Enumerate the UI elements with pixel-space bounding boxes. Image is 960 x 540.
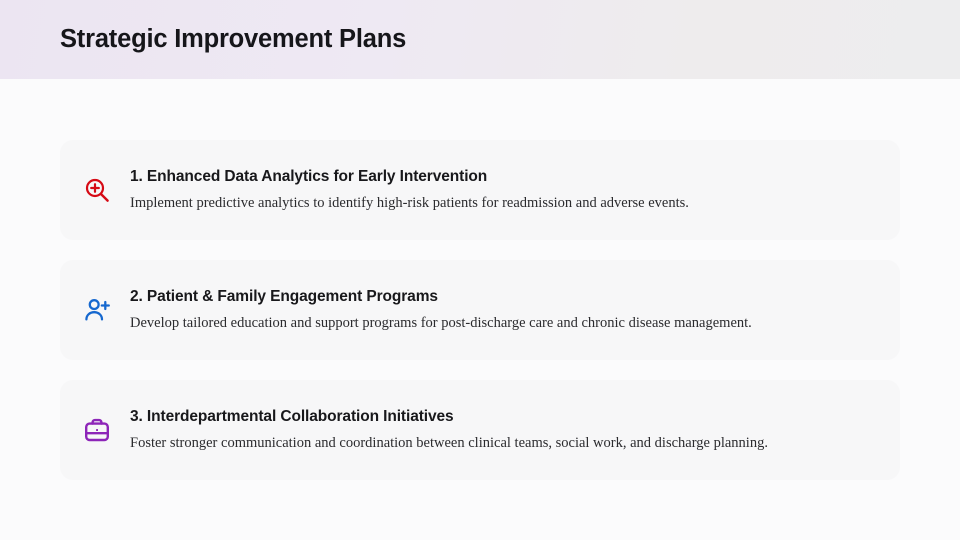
- zoom-in-magnifier-icon: [83, 176, 111, 204]
- plan-card-2[interactable]: 2. Patient & Family Engagement Programs …: [60, 260, 900, 360]
- page-header: Strategic Improvement Plans: [0, 0, 960, 79]
- briefcase-icon: [83, 416, 111, 444]
- plan-title: 2. Patient & Family Engagement Programs: [130, 287, 874, 306]
- plan-card-1[interactable]: 1. Enhanced Data Analytics for Early Int…: [60, 140, 900, 240]
- plan-card-3[interactable]: 3. Interdepartmental Collaboration Initi…: [60, 380, 900, 480]
- plan-description: Foster stronger communication and coordi…: [130, 434, 874, 453]
- plan-title: 3. Interdepartmental Collaboration Initi…: [130, 407, 874, 426]
- page-title: Strategic Improvement Plans: [60, 27, 406, 53]
- plans-list: 1. Enhanced Data Analytics for Early Int…: [0, 79, 960, 480]
- plan-description: Implement predictive analytics to identi…: [130, 194, 874, 213]
- user-plus-icon: [83, 296, 111, 324]
- plan-description: Develop tailored education and support p…: [130, 314, 874, 333]
- plan-title: 1. Enhanced Data Analytics for Early Int…: [130, 167, 874, 186]
